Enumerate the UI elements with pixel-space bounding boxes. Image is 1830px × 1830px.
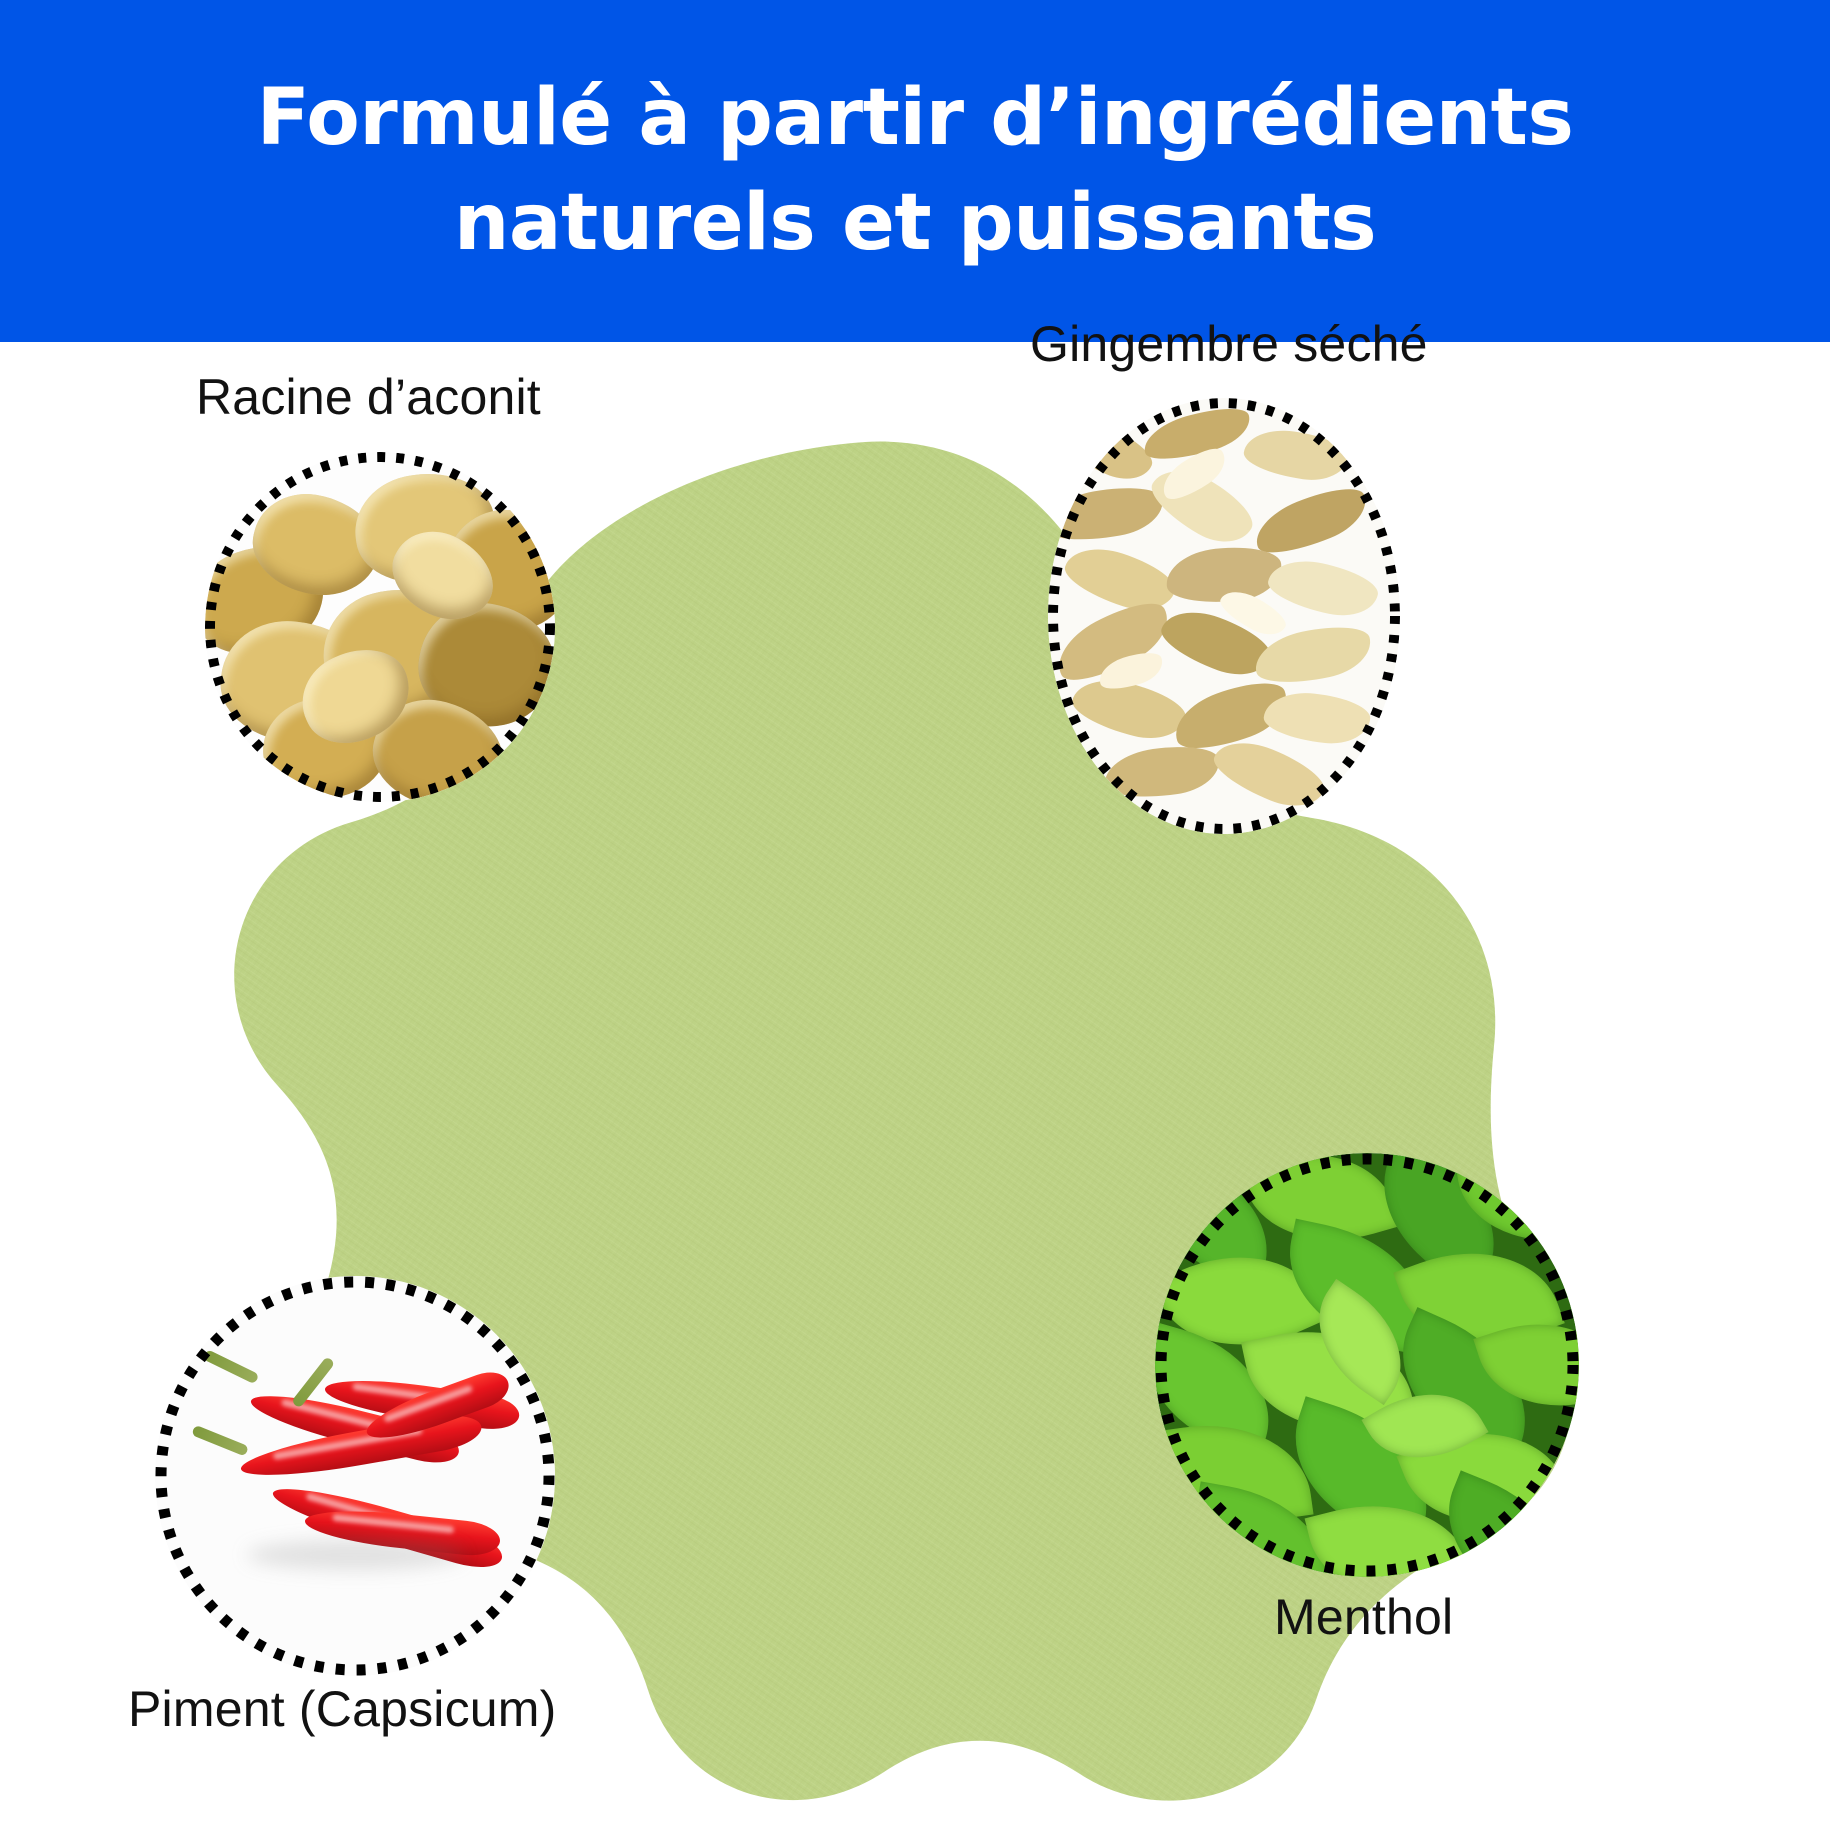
ingredient-chili[interactable] [155, 1276, 555, 1676]
aconite-image-circle [205, 452, 555, 802]
header-banner: Formulé à partir d’ingrédients naturels … [0, 0, 1830, 342]
green-mint-leaves-image [1155, 1153, 1579, 1577]
dried-ginger-image [1048, 398, 1400, 834]
red-chili-peppers-image [155, 1276, 555, 1676]
ingredient-ginger[interactable] [1048, 398, 1400, 834]
mint-image-circle [1155, 1153, 1579, 1577]
ingredient-label-mint: Menthol [1274, 1588, 1453, 1646]
ingredient-label-chili: Piment (Capsicum) [128, 1680, 557, 1738]
ingredient-label-ginger: Gingembre séché [1030, 315, 1428, 373]
ingredient-aconite[interactable] [205, 452, 555, 802]
page-title: Formulé à partir d’ingrédients naturels … [235, 66, 1595, 277]
chili-image-circle [155, 1276, 555, 1676]
dried-aconite-root-image [205, 452, 555, 802]
ingredient-label-aconite: Racine d’aconit [196, 368, 541, 426]
ingredient-mint[interactable] [1155, 1153, 1579, 1577]
ginger-image-circle [1048, 398, 1400, 834]
ingredients-infographic: Formulé à partir d’ingrédients naturels … [0, 0, 1830, 1830]
